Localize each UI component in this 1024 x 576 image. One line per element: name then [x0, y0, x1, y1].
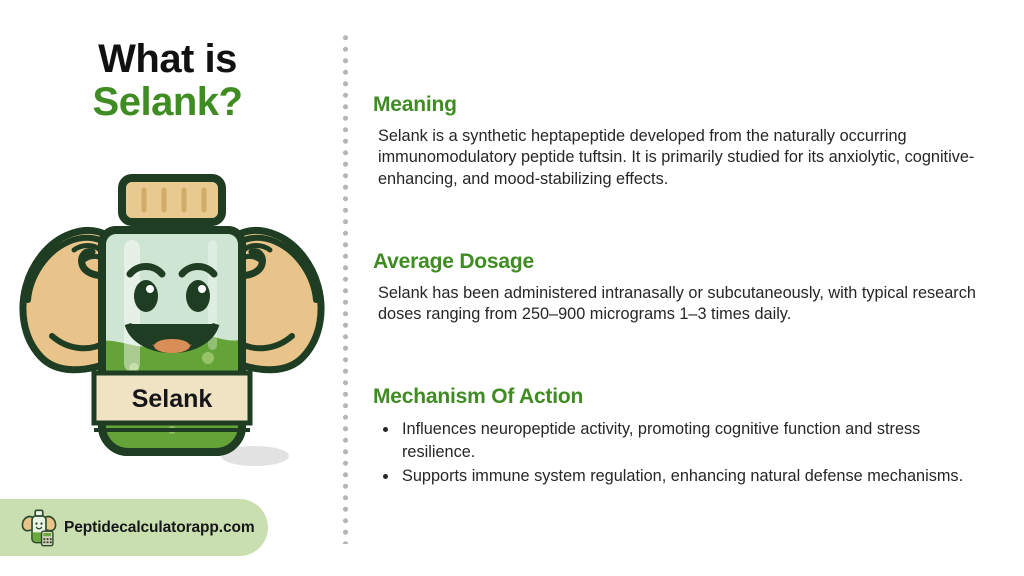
left-panel: What is Selank?: [0, 0, 345, 576]
selank-bottle-mascot-illustration: Selank: [12, 168, 332, 478]
page-title: What is Selank?: [0, 38, 335, 124]
site-footer-badge[interactable]: Peptidecalculatorapp.com: [0, 499, 268, 556]
bottle-label: Selank: [94, 373, 250, 430]
section-body-average-dosage: Selank has been administered intranasall…: [373, 283, 990, 326]
list-item: Influences neuropeptide activity, promot…: [399, 418, 990, 464]
title-line-selank: Selank?: [0, 80, 335, 124]
bottle-cap: [122, 178, 222, 222]
right-eye: [186, 280, 210, 312]
title-line-what-is: What is: [0, 38, 335, 80]
mechanism-bullet-list: Influences neuropeptide activity, promot…: [373, 418, 990, 488]
right-content-panel: Meaning Selank is a synthetic heptapepti…: [345, 0, 1024, 576]
left-eye: [134, 280, 158, 312]
section-heading-average-dosage: Average Dosage: [373, 250, 990, 274]
section-meaning: Meaning Selank is a synthetic heptapepti…: [373, 93, 990, 190]
list-item: Supports immune system regulation, enhan…: [399, 465, 990, 488]
site-url-label: Peptidecalculatorapp.com: [64, 519, 255, 537]
section-heading-meaning: Meaning: [373, 93, 990, 117]
section-heading-mechanism-of-action: Mechanism Of Action: [373, 385, 990, 409]
infographic-page: What is Selank?: [0, 0, 1024, 576]
peptide-calculator-logo-icon: [20, 508, 58, 548]
svg-text:Selank: Selank: [132, 385, 213, 413]
section-average-dosage: Average Dosage Selank has been administe…: [373, 250, 990, 326]
section-body-meaning: Selank is a synthetic heptapeptide devel…: [373, 126, 990, 190]
section-mechanism-of-action: Mechanism Of Action Influences neuropept…: [373, 385, 990, 489]
